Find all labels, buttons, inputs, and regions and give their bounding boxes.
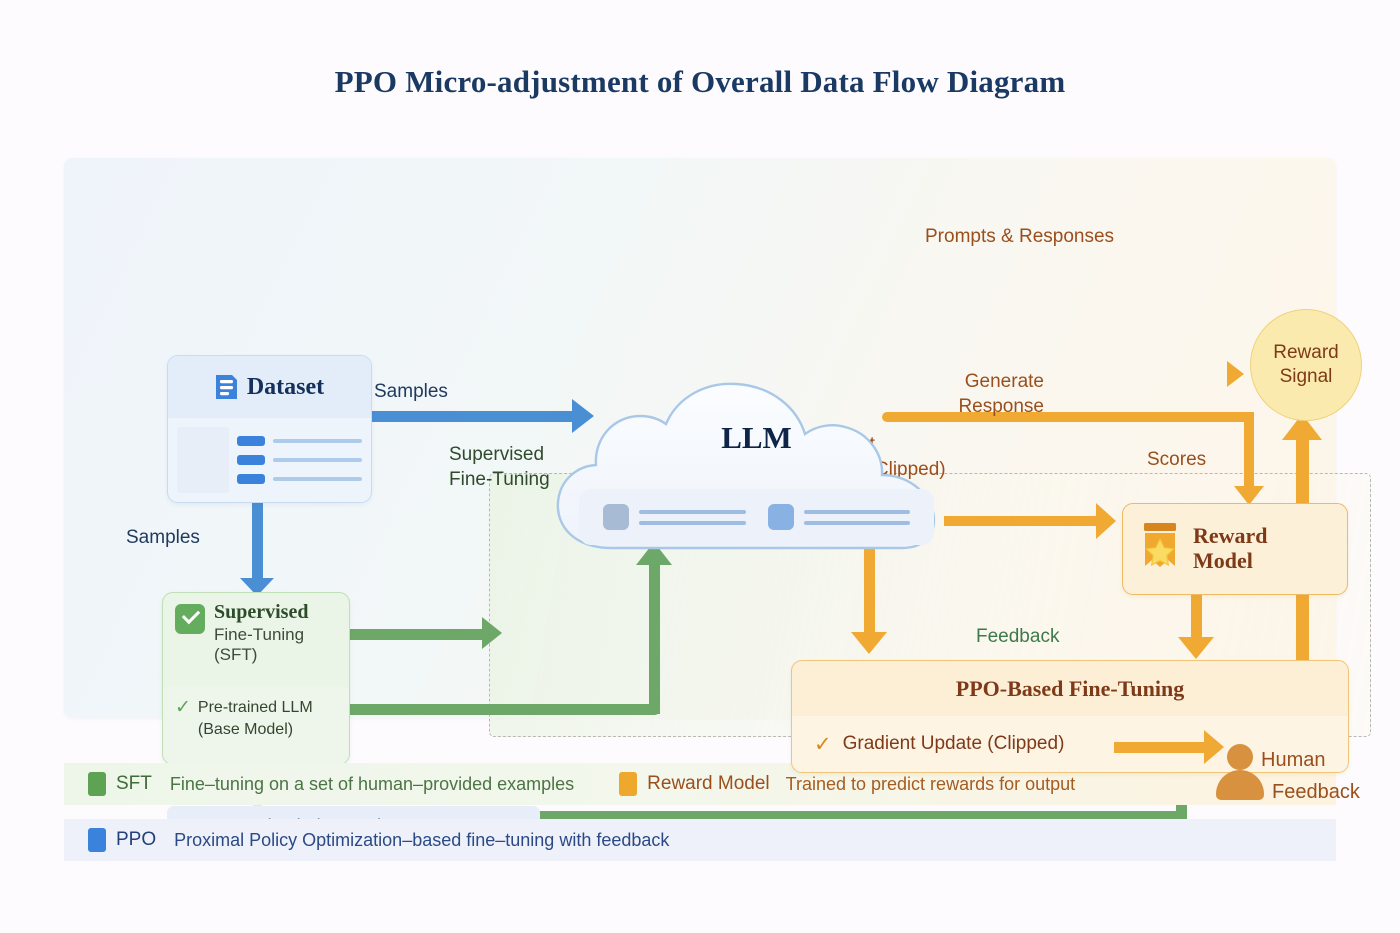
legend-item-ppo: PPO Proximal Policy Optimization–based f… bbox=[88, 828, 669, 852]
edge-ppo-to-human bbox=[1114, 742, 1209, 753]
sft-header: Supervised Fine-Tuning (SFT) bbox=[163, 593, 349, 681]
legend-item-sft: SFT Fine–tuning on a set of human–provid… bbox=[88, 772, 574, 796]
ppo-body-label: Gradient Update (Clipped) bbox=[843, 733, 1065, 755]
dataset-row-line bbox=[273, 477, 362, 481]
check-icon: ✓ bbox=[814, 734, 832, 755]
edge-llm-to-reward-model-elbow-h bbox=[1159, 412, 1254, 422]
legend-swatch-ppo bbox=[88, 828, 106, 852]
dataset-row-pill bbox=[237, 455, 265, 465]
legend-swatch-sft bbox=[88, 772, 106, 796]
edge-sft-to-label-arrow bbox=[482, 617, 502, 649]
page-title: PPO Micro-adjustment of Overall Data Flo… bbox=[0, 64, 1400, 100]
edge-label-prompts-responses: Prompts & Responses bbox=[925, 225, 1114, 250]
edge-sft-to-label bbox=[350, 629, 485, 640]
edge-label-feedback: Feedback bbox=[976, 625, 1059, 650]
legend-key-reward-model: Reward Model bbox=[647, 773, 770, 795]
legend-key-sft: SFT bbox=[116, 773, 152, 795]
edge-llm-to-reward-signal-arrow bbox=[1227, 361, 1244, 387]
dataset-row-line bbox=[273, 439, 362, 443]
node-supervised-fine-tuning[interactable]: Supervised Fine-Tuning (SFT) ✓ Pre-train… bbox=[162, 592, 350, 765]
llm-block-icon bbox=[603, 504, 629, 530]
dataset-header: Dataset bbox=[168, 356, 371, 418]
check-square-icon bbox=[175, 604, 205, 634]
dataset-rows bbox=[237, 427, 362, 493]
node-dataset[interactable]: Dataset bbox=[167, 355, 372, 503]
edge-label-samples-down: Samples bbox=[126, 526, 200, 551]
edge-sft-to-llm-horizontal bbox=[350, 704, 660, 715]
edge-scores bbox=[1191, 593, 1202, 641]
node-llm[interactable]: LLM bbox=[544, 380, 969, 552]
llm-text-lines bbox=[804, 510, 911, 525]
diagram-canvas: Samples Samples Supervised Fine-Tuning P… bbox=[64, 158, 1336, 718]
legend-text-ppo: Proximal Policy Optimization–based fine–… bbox=[174, 830, 669, 851]
llm-content-bar bbox=[579, 489, 934, 545]
human-label-line1: Human bbox=[1261, 749, 1325, 772]
dataset-row bbox=[237, 474, 362, 484]
reward-model-line2: Model bbox=[1193, 549, 1268, 574]
dataset-row-pill bbox=[237, 474, 265, 484]
legend-text-sft: Fine–tuning on a set of human–provided e… bbox=[170, 774, 574, 795]
reward-signal-line2: Signal bbox=[1280, 365, 1333, 389]
edge-llm-gradient-update-arrow bbox=[851, 632, 887, 654]
llm-content-group bbox=[603, 504, 746, 530]
dataset-title: Dataset bbox=[247, 374, 324, 401]
check-icon: ✓ bbox=[175, 698, 191, 717]
dataset-row-pill bbox=[237, 436, 265, 446]
sft-title-line2: Fine-Tuning (SFT) bbox=[214, 625, 337, 665]
llm-text-lines bbox=[639, 510, 746, 525]
reward-model-title: Reward Model bbox=[1193, 524, 1268, 573]
sft-body-line2: (Base Model) bbox=[198, 719, 313, 741]
edge-label-samples-right: Samples bbox=[374, 380, 448, 405]
node-reward-signal[interactable]: Reward Signal bbox=[1250, 309, 1362, 421]
edge-llm-gradient-update bbox=[864, 543, 875, 636]
dataset-row-line bbox=[273, 458, 362, 462]
diagram-root: PPO Micro-adjustment of Overall Data Flo… bbox=[0, 0, 1400, 933]
edge-llm-to-reward-model-elbow-v bbox=[1244, 412, 1254, 490]
dataset-row bbox=[237, 436, 362, 446]
edge-label-scores: Scores bbox=[1147, 448, 1206, 473]
edge-dataset-to-sft bbox=[252, 503, 263, 581]
llm-content-group bbox=[768, 504, 911, 530]
document-list-icon bbox=[215, 374, 238, 400]
legend-key-ppo: PPO bbox=[116, 829, 156, 851]
legend-swatch-reward-model bbox=[619, 772, 637, 796]
human-label-line2: Feedback bbox=[1272, 781, 1360, 804]
reward-signal-line1: Reward bbox=[1273, 341, 1338, 365]
edge-generate-response-arrow bbox=[1096, 503, 1116, 539]
sft-title-line1: Supervised bbox=[214, 602, 337, 623]
ppo-title: PPO-Based Fine-Tuning bbox=[792, 661, 1348, 716]
llm-block-icon bbox=[768, 504, 794, 530]
sft-body-line1: Pre-trained LLM bbox=[198, 697, 313, 719]
badge-star-icon bbox=[1140, 522, 1180, 576]
legend-text-reward-model: Trained to predict rewards for output bbox=[786, 774, 1075, 795]
llm-label: LLM bbox=[544, 420, 969, 456]
sft-body: ✓ Pre-trained LLM (Base Model) bbox=[163, 687, 349, 764]
node-reward-model[interactable]: Reward Model bbox=[1122, 503, 1348, 595]
dataset-side-panel bbox=[177, 427, 229, 493]
legend-item-reward-model: Reward Model Trained to predict rewards … bbox=[619, 772, 1075, 796]
edge-sft-to-llm-vertical bbox=[649, 564, 660, 714]
reward-model-line1: Reward bbox=[1193, 524, 1268, 549]
legend-row-2: PPO Proximal Policy Optimization–based f… bbox=[64, 819, 1336, 861]
person-icon bbox=[1216, 744, 1264, 800]
dataset-row bbox=[237, 455, 362, 465]
edge-scores-arrow bbox=[1178, 637, 1214, 659]
dataset-body bbox=[168, 418, 371, 502]
